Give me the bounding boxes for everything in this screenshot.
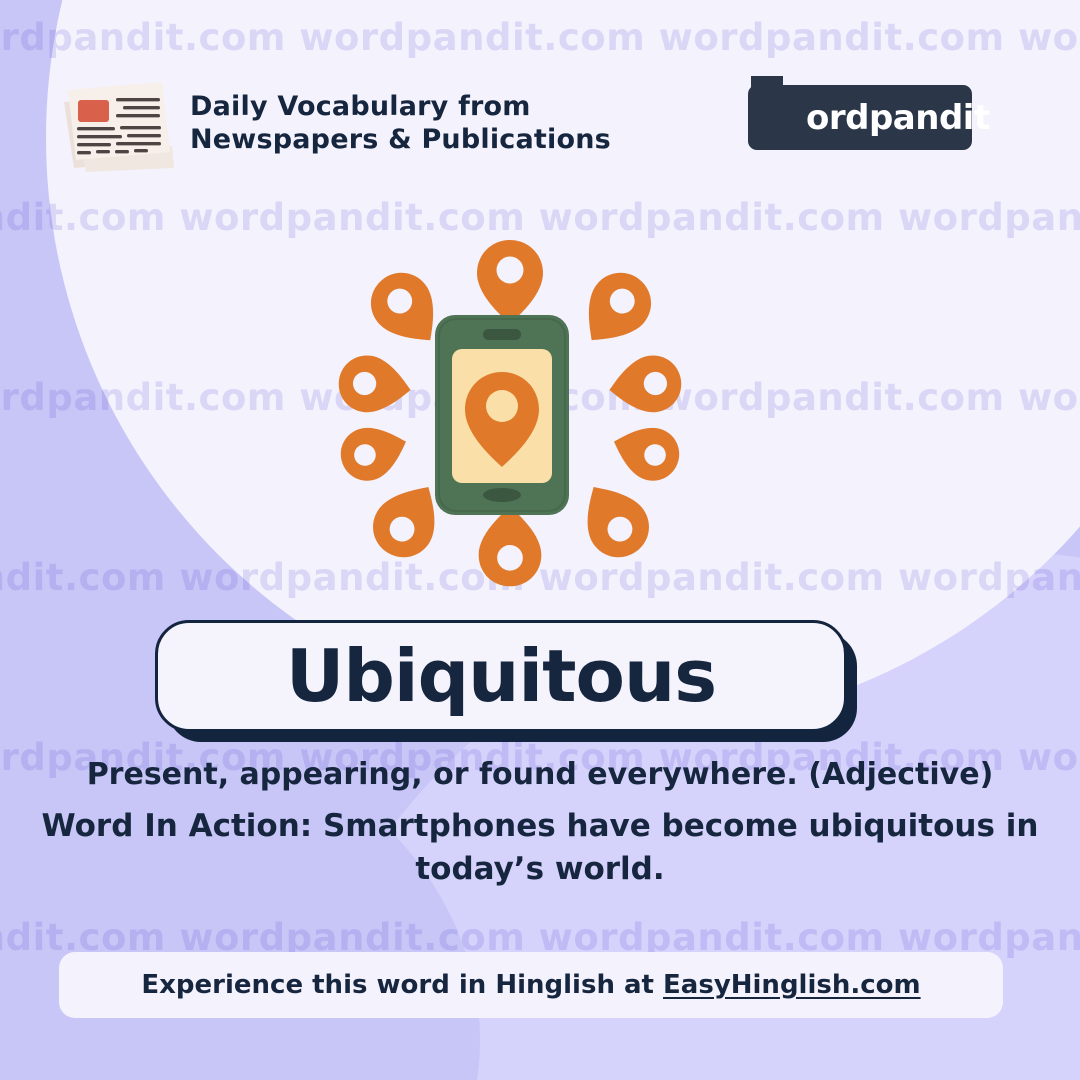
header-title-line1: Daily Vocabulary from [190,90,611,123]
location-pin-right-upper [605,352,684,418]
ubiquitous-location-pins-illustration [330,232,690,592]
location-pin-top-right [568,261,663,359]
word-usage-sentence: Word In Action: Smartphones have become … [30,805,1050,891]
location-pin-bottom-right [568,471,660,569]
footer-prefix: Experience this word in Hinglish at [141,970,663,1000]
smartphone-shape [435,315,569,515]
location-pin-left-lower [334,417,414,488]
location-pin-left-upper [335,352,414,418]
location-pin-right-lower [606,417,686,488]
location-pin-bottom [479,507,542,587]
wordpandit-logo[interactable]: ordpandit [748,85,972,150]
headword: Ubiquitous [286,640,716,712]
word-card-face: Ubiquitous [155,620,847,732]
footer-banner[interactable]: Experience this word in Hinglish at Easy… [59,952,1003,1018]
logo-text: ordpandit [806,98,990,138]
bookmark-w-icon [745,72,789,150]
easyhinglish-link[interactable]: EasyHinglish.com [663,970,921,1000]
word-definition: Present, appearing, or found everywhere.… [40,757,1040,792]
newspaper-icon [52,72,180,172]
word-card: Ubiquitous [155,620,845,730]
phone-home-button [483,488,521,502]
header-title: Daily Vocabulary from Newspapers & Publi… [190,90,611,156]
location-pin-top [477,240,543,324]
phone-speaker [483,329,521,340]
poster-canvas: wordpandit.com wordpandit.com wordpandit… [0,0,1080,1080]
header-title-line2: Newspapers & Publications [190,123,611,156]
header: Daily Vocabulary from Newspapers & Publi… [0,0,1080,185]
footer-text: Experience this word in Hinglish at Easy… [141,970,920,1000]
